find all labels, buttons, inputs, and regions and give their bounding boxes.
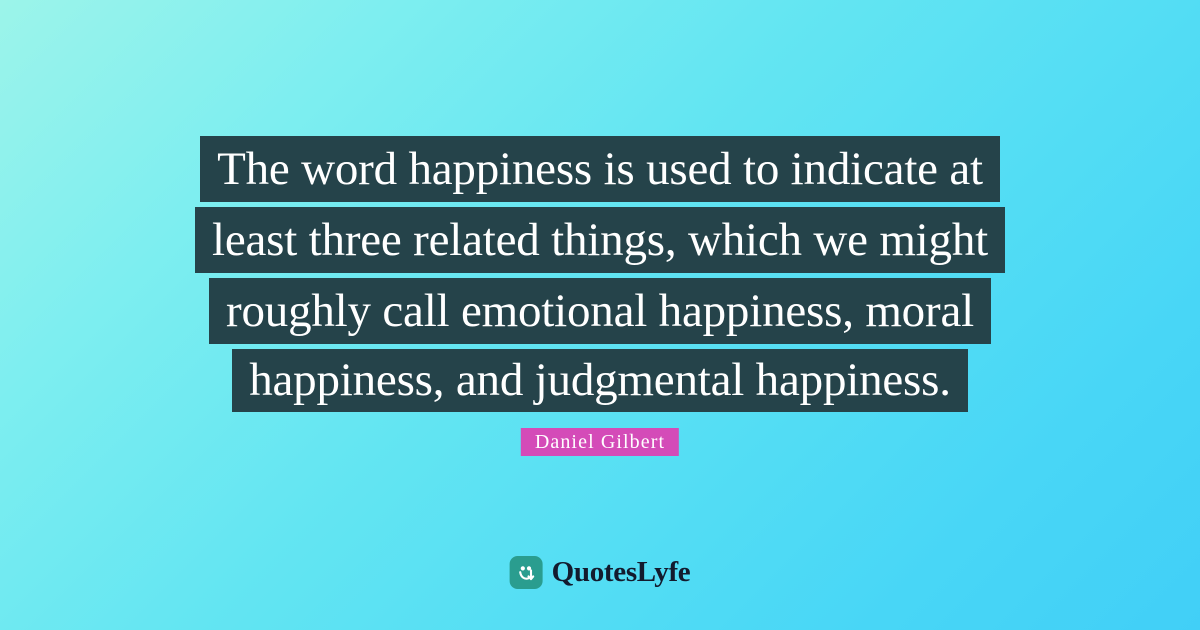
brand-logo: QuotesLyfe bbox=[510, 556, 691, 589]
quote-text-block: The word happiness is used to indicate a… bbox=[0, 136, 1200, 412]
author-badge: Daniel Gilbert bbox=[521, 428, 679, 456]
quote-mark-icon bbox=[510, 556, 543, 589]
brand-name: QuotesLyfe bbox=[552, 556, 691, 589]
quote-line: least three related things, which we mig… bbox=[195, 207, 1005, 273]
quote-line: roughly call emotional happiness, moral bbox=[209, 278, 991, 344]
quote-card: The word happiness is used to indicate a… bbox=[0, 0, 1200, 630]
quote-line: happiness, and judgmental happiness. bbox=[232, 349, 968, 412]
quote-line: The word happiness is used to indicate a… bbox=[200, 136, 1000, 202]
